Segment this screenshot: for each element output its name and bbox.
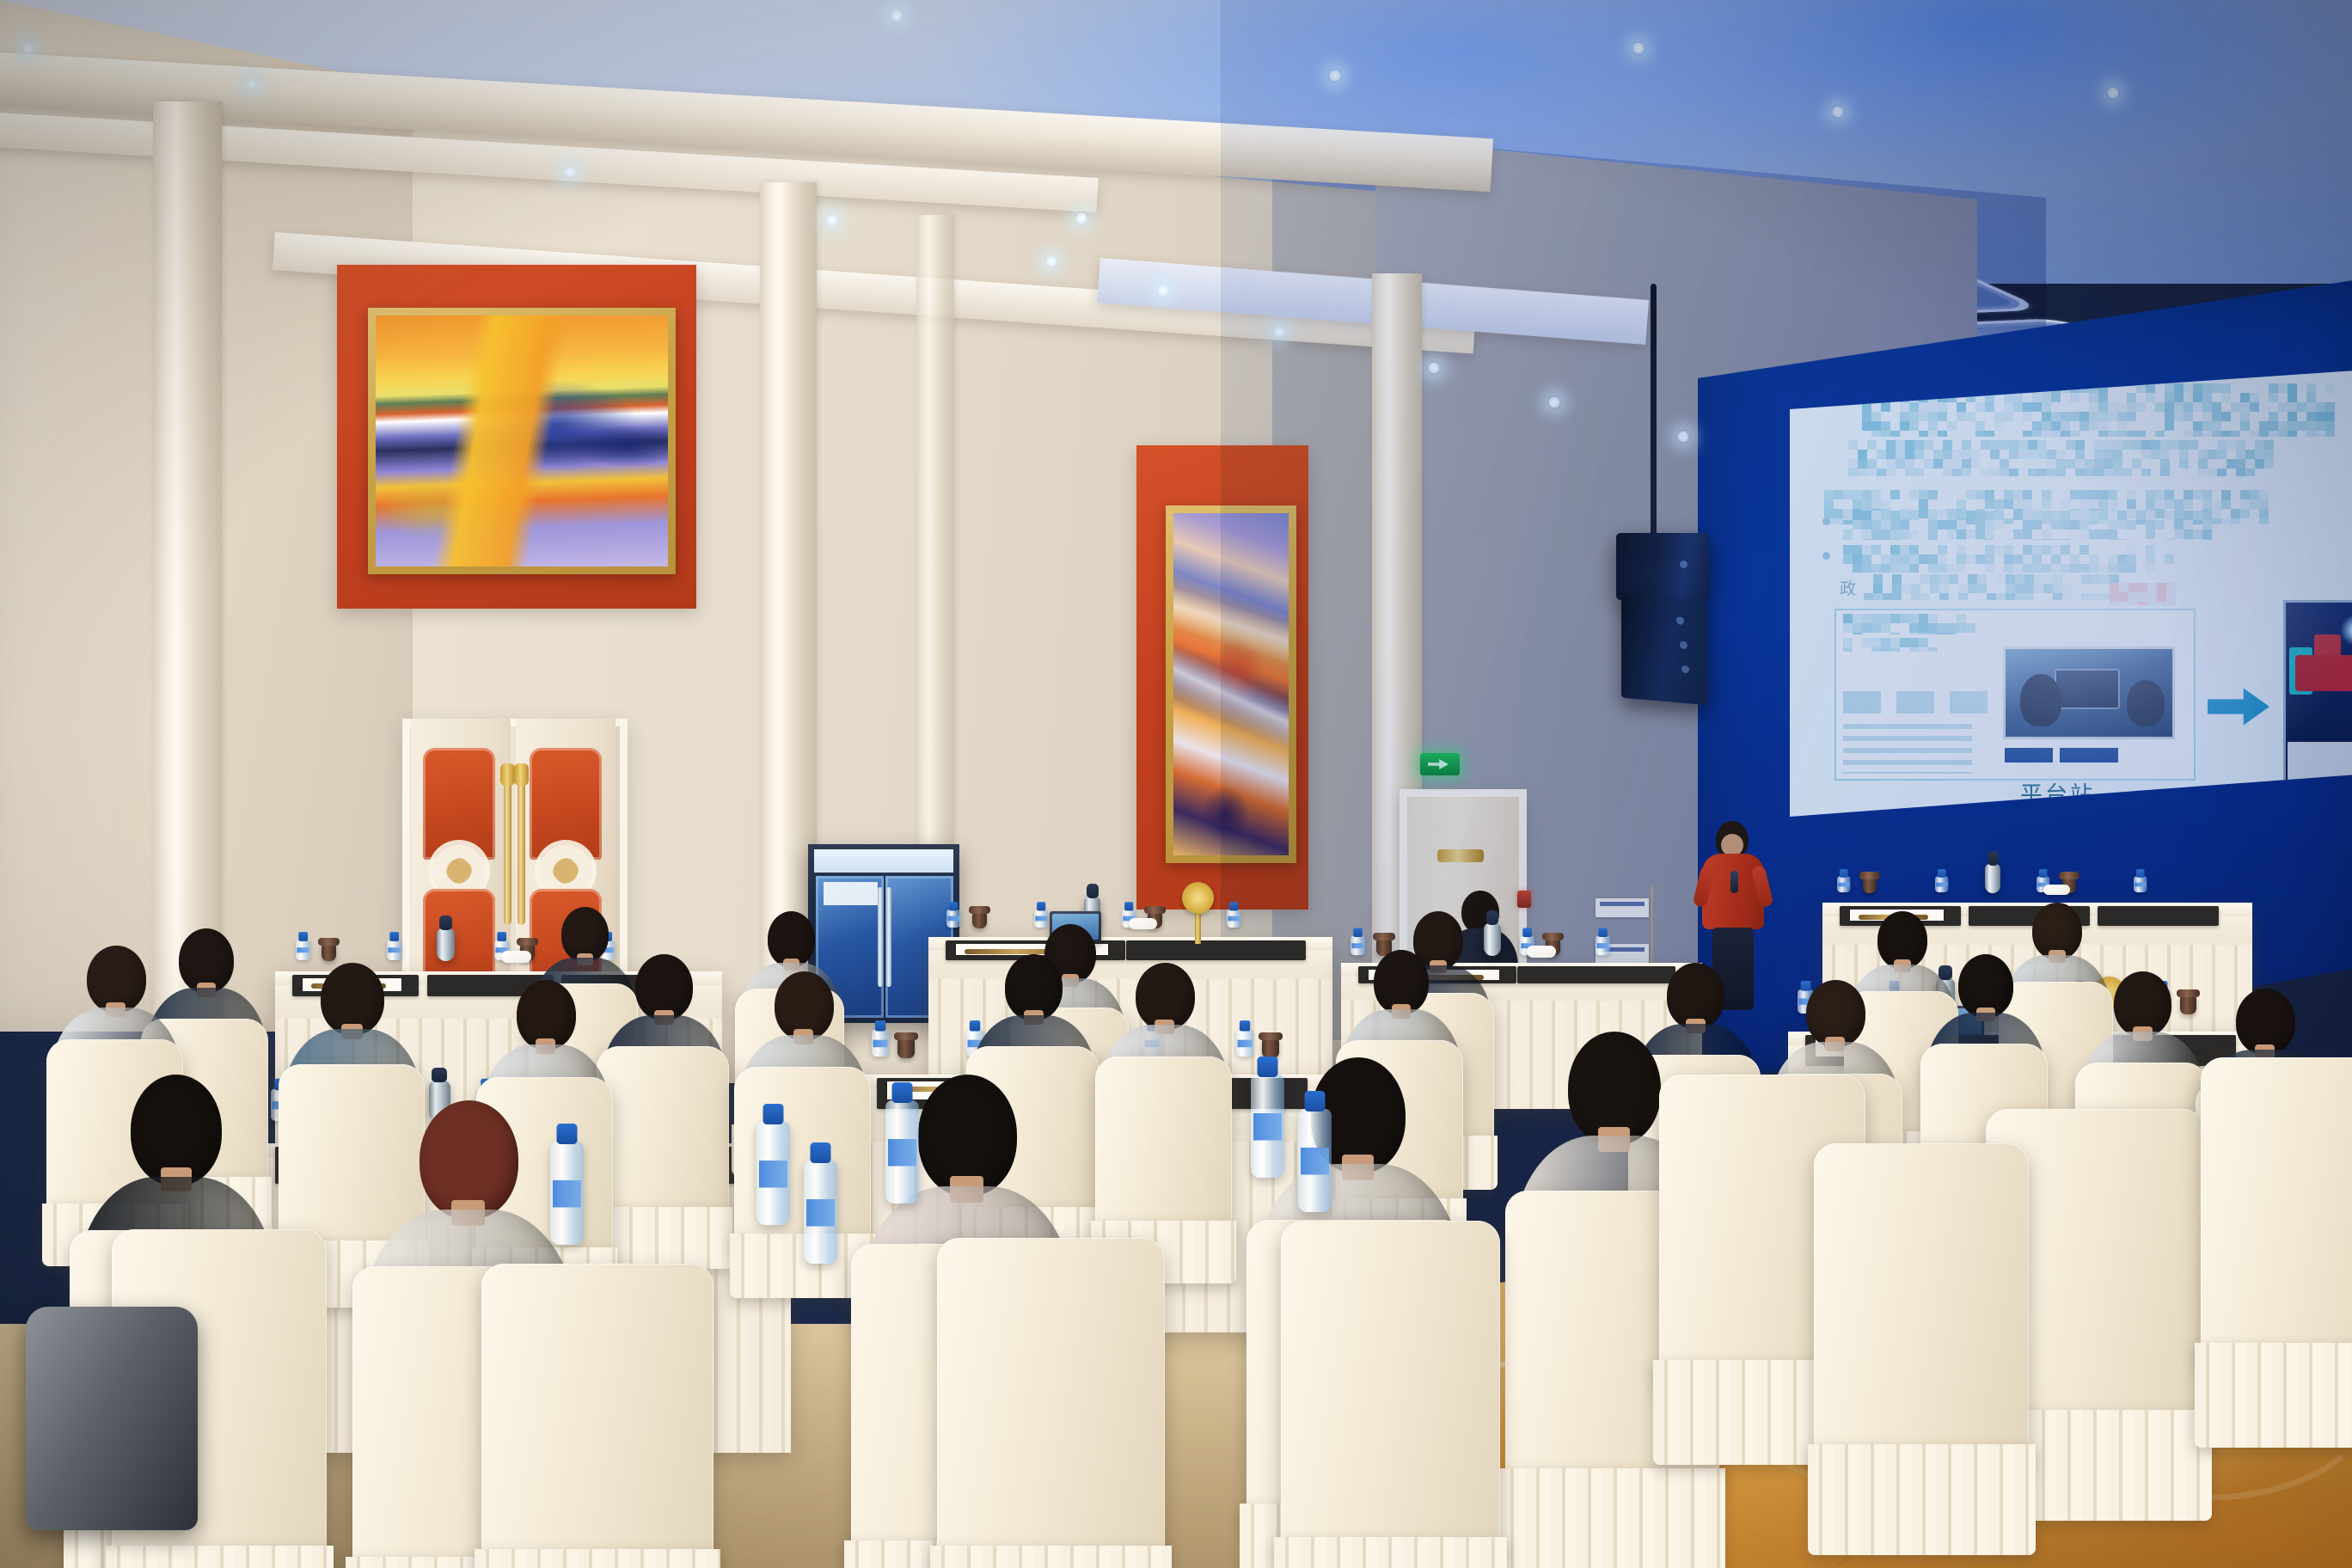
tea-mug — [972, 912, 986, 928]
backpack — [26, 1307, 198, 1530]
water-bottle — [1596, 935, 1610, 955]
tea-mug — [897, 1038, 915, 1058]
water-bottle — [1837, 877, 1850, 892]
ballroom-conference-photo: 政 平台站 — [0, 0, 2352, 1568]
chair-skirt — [1808, 1444, 2036, 1555]
water-bottle — [872, 1030, 889, 1057]
water-bottle — [550, 1142, 584, 1245]
water-bottle — [2134, 877, 2147, 892]
banquet-chair — [597, 1046, 729, 1217]
chair-skirt — [1499, 1468, 1726, 1568]
chair-skirt — [930, 1546, 1172, 1568]
chair-skirt — [1274, 1537, 1506, 1568]
water-bottle — [1298, 1109, 1332, 1212]
water-bottle — [1227, 910, 1240, 928]
banquet-chair — [1095, 1057, 1232, 1231]
thermos-carafe — [1985, 864, 2000, 894]
banquet-chair-empty — [2201, 1057, 2352, 1367]
banquet-chair — [734, 1067, 871, 1245]
water-bottle — [804, 1161, 837, 1264]
tea-mug — [322, 944, 336, 961]
folded-napkin — [1527, 946, 1556, 957]
banquet-chair-empty — [481, 1264, 714, 1568]
water-bottle — [387, 940, 401, 960]
tea-mug — [1863, 878, 1876, 893]
tea-mug — [1262, 1038, 1279, 1058]
water-bottle — [885, 1100, 919, 1204]
water-bottle — [946, 910, 960, 928]
chair-skirt — [475, 1549, 720, 1568]
folded-napkin — [501, 951, 531, 962]
banquet-chair-empty — [1281, 1221, 1500, 1565]
chair-skirt — [2195, 1343, 2352, 1448]
thermos-carafe — [437, 928, 454, 962]
folded-napkin — [1129, 918, 1157, 929]
water-bottle — [1935, 877, 1948, 892]
desk-mat — [2098, 906, 2219, 926]
table-number-stand — [1195, 908, 1201, 944]
folded-napkin — [2043, 885, 2070, 895]
water-bottle — [1236, 1030, 1253, 1057]
chair-skirt — [106, 1546, 334, 1568]
water-bottle — [1251, 1075, 1284, 1178]
desk-mat — [1126, 940, 1306, 960]
banquet-chair-empty — [1814, 1143, 2029, 1470]
banquet-chair-empty — [937, 1238, 1165, 1568]
water-bottle — [296, 940, 310, 960]
water-bottle — [756, 1122, 790, 1225]
